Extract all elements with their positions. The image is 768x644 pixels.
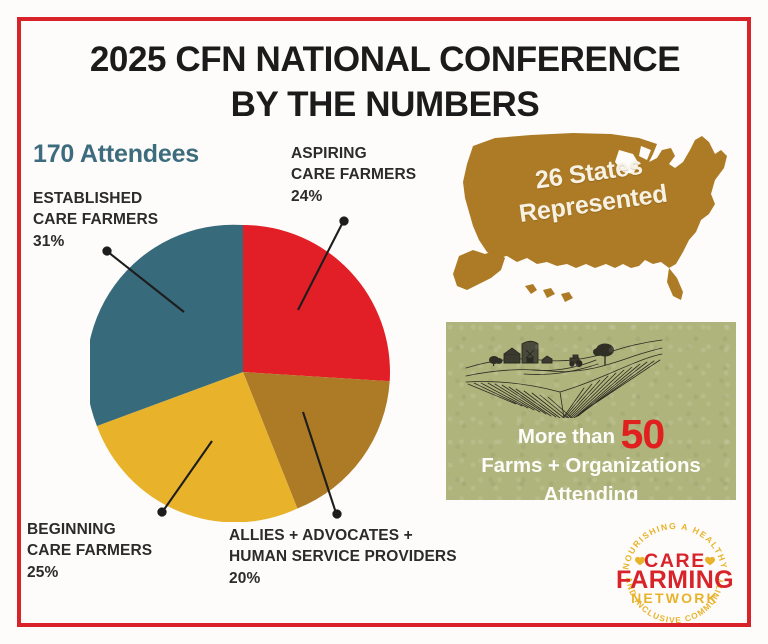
pie-label-established-line1: ESTABLISHED [33,190,142,207]
pie-label-aspiring-line2: CARE FARMERS [291,166,416,183]
attendee-role-pie-chart [90,222,396,522]
farms-line-2: Farms + Organizations [446,451,736,480]
page-title: 2025 CFN NATIONAL CONFERENCE BY THE NUMB… [50,38,720,128]
pie-label-aspiring: ASPIRING CARE FARMERS 24% [291,143,461,207]
farms-count: 50 [621,411,665,457]
pie-label-established-percent: 31% [33,231,208,252]
pie-label-beginning: BEGINNING CARE FARMERS 25% [27,519,207,583]
logo-word-network: NETWORK [631,590,719,606]
infographic-poster: 2025 CFN NATIONAL CONFERENCE BY THE NUMB… [0,0,768,644]
states-represented-map: 26 States Represented [443,128,743,308]
farms-line-3: Attending [446,480,736,500]
farms-attending-panel: More than 50 Farms + Organizations Atten… [446,322,736,500]
pie-label-allies-percent: 20% [229,568,519,589]
care-farming-network-logo: NOURISHING A HEALTHY AND INCLUSIVE COMMU… [612,508,738,630]
pie-label-beginning-line2: CARE FARMERS [27,542,152,559]
title-line-2: BY THE NUMBERS [50,83,720,128]
pie-label-established-line2: CARE FARMERS [33,211,158,228]
farms-line-1: More than 50 [446,418,736,451]
pie-label-allies-line2: HUMAN SERVICE PROVIDERS [229,548,457,565]
pie-label-allies-line1: ALLIES + ADVOCATES + [229,527,413,544]
farm-landscape-illustration [464,330,664,418]
farms-attending-text: More than 50 Farms + Organizations Atten… [446,418,736,500]
pie-slice-aspiring [243,225,390,381]
title-line-1: 2025 CFN NATIONAL CONFERENCE [50,38,720,83]
pie-label-beginning-percent: 25% [27,562,207,583]
pie-label-allies: ALLIES + ADVOCATES + HUMAN SERVICE PROVI… [229,525,519,589]
pie-label-aspiring-percent: 24% [291,186,461,207]
pie-label-beginning-line1: BEGINNING [27,521,116,538]
heart-icon-right [705,557,715,565]
farms-prefix: More than [518,425,615,448]
attendees-headline: 170 Attendees [33,140,199,169]
pie-label-established: ESTABLISHED CARE FARMERS 31% [33,188,208,252]
pie-label-aspiring-line1: ASPIRING [291,145,367,162]
